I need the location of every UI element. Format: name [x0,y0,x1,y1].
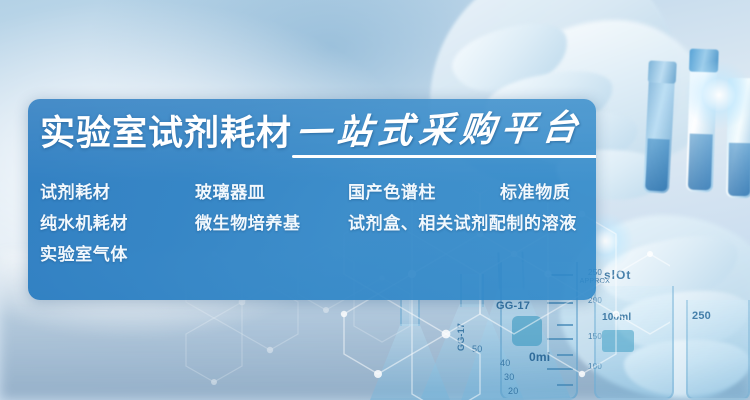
graduation-mark [557,354,573,356]
headline-underline [292,155,596,158]
category-item-laboratory-gases[interactable]: 实验室气体 [40,240,195,265]
headline-main-text: 实验室试剂耗材 [40,116,292,151]
headline: 实验室试剂耗材 一站式采购平台 [40,113,583,151]
beaker-brand-label: slOt [604,268,631,282]
category-item-microbial-culture-media[interactable]: 微生物培养基 [195,209,348,234]
category-row: 实验室气体 [40,237,588,268]
vial-liquid [645,139,670,192]
flask-code-label-main: GG-17 [496,300,530,312]
beaker-frosted-panel [602,330,634,352]
flask-frosted-panel [512,316,542,346]
vial-liquid [728,143,750,196]
category-row: 试剂耗材 玻璃器皿 国产色谱柱 标准物质 [40,175,588,206]
category-row: 纯水机耗材 微生物培养基 试剂盒、相关试剂配制的溶液 [40,206,588,237]
category-item-reference-materials[interactable]: 标准物质 [500,178,570,203]
flask-mark-20: 20 [508,386,518,396]
beaker-far-right: 250 [686,300,750,400]
blue-content-panel: 实验室试剂耗材 一站式采购平台 试剂耗材 玻璃器皿 国产色谱柱 标准物质 纯水机… [28,99,596,300]
flask-mark-40: 40 [500,358,510,368]
category-item-domestic-chromatography-column[interactable]: 国产色谱柱 [348,178,500,203]
vial-cap [648,60,677,83]
category-item-glassware[interactable]: 玻璃器皿 [195,178,348,203]
beaker-right: 100ml slOt [594,286,674,400]
graduation-label-250: 250 [692,310,711,322]
beaker-volume-label: 100ml [602,312,631,323]
flask-neck [400,300,419,326]
graduation-mark [547,338,573,340]
flask-code-label: GG-17 [456,323,466,351]
promo-banner: 250 APPROX 200 150 100 100ml slOt 250 GG… [0,0,750,400]
category-item-reagent-consumables[interactable]: 试剂耗材 [40,178,195,203]
graduation-mark [547,302,573,304]
vial-liquid [688,133,713,190]
headline-brush-wrap: 一站式采购平台 [296,113,583,151]
graduation-mark [547,368,573,370]
light-flare [684,60,750,130]
flask-mark-30: 30 [504,372,514,382]
headline-brush-text: 一站式采购平台 [294,110,585,151]
graduation-mark [557,384,573,386]
category-grid: 试剂耗材 玻璃器皿 国产色谱柱 标准物质 纯水机耗材 微生物培养基 试剂盒、相关… [40,175,588,268]
flask-volume-label: 0ml [529,350,550,364]
category-item-reagent-kits-solutions[interactable]: 试剂盒、相关试剂配制的溶液 [348,209,577,234]
category-item-water-purifier-consumables[interactable]: 纯水机耗材 [40,209,195,234]
graduation-mark [557,324,573,326]
flask-mark-50: 50 [472,344,482,354]
